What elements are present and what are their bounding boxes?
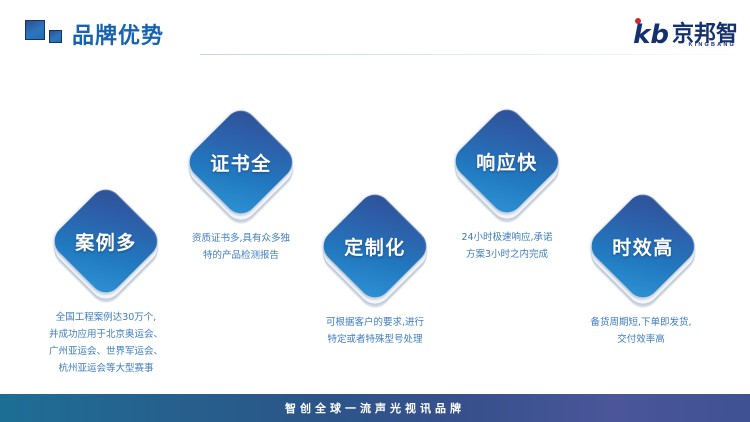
- feature-description: 可根据客户的要求,进行 特定或者特殊型号处理: [285, 314, 465, 348]
- page-header: 品牌优势 kb 京邦智 KINGBANG: [0, 0, 750, 60]
- brand-logo-initials: kb: [633, 23, 669, 47]
- diamond-shape-response[interactable]: 响应快: [450, 104, 564, 218]
- diamond-face: [449, 103, 565, 219]
- diamond-face: [183, 104, 299, 220]
- diamond-shape-customization[interactable]: 定制化: [318, 189, 432, 303]
- diamond-shape-cases[interactable]: 案例多: [49, 184, 163, 298]
- header-decor-squares: [25, 20, 71, 44]
- features-stage: 案例多 全国工程案例达30万个, 并成功应用于北京奥运会、 广州亚运会、世界军运…: [0, 56, 750, 396]
- square-large-icon: [25, 20, 45, 40]
- diamond-face: [585, 188, 701, 304]
- feature-description: 24小时极速响应,承诺 方案3小时之内完成: [417, 229, 597, 263]
- header-divider: [200, 54, 740, 55]
- diamond-face: [317, 188, 433, 304]
- brand-logo: kb 京邦智 KINGBANG: [633, 13, 738, 47]
- brand-logo-kb-mark: kb: [633, 23, 669, 47]
- feature-description: 全国工程案例达30万个, 并成功应用于北京奥运会、 广州亚运会、世界军运会、 杭…: [16, 309, 196, 377]
- feature-description: 备货周期短,下单即发货, 交付效率高: [551, 314, 731, 348]
- square-small-icon: [49, 30, 62, 43]
- footer-bar: 智创全球一流声光视讯品牌: [0, 394, 750, 422]
- page-title: 品牌优势: [72, 18, 164, 50]
- feature-description: 资质证书多,具有众多独 特的产品检测报告: [151, 230, 331, 264]
- brand-logo-pinyin: KINGBANG: [688, 42, 736, 48]
- footer-slogan: 智创全球一流声光视讯品牌: [285, 400, 465, 416]
- diamond-shape-certificates[interactable]: 证书全: [184, 105, 298, 219]
- diamond-shape-efficiency[interactable]: 时效高: [586, 189, 700, 303]
- diamond-face: [48, 183, 164, 299]
